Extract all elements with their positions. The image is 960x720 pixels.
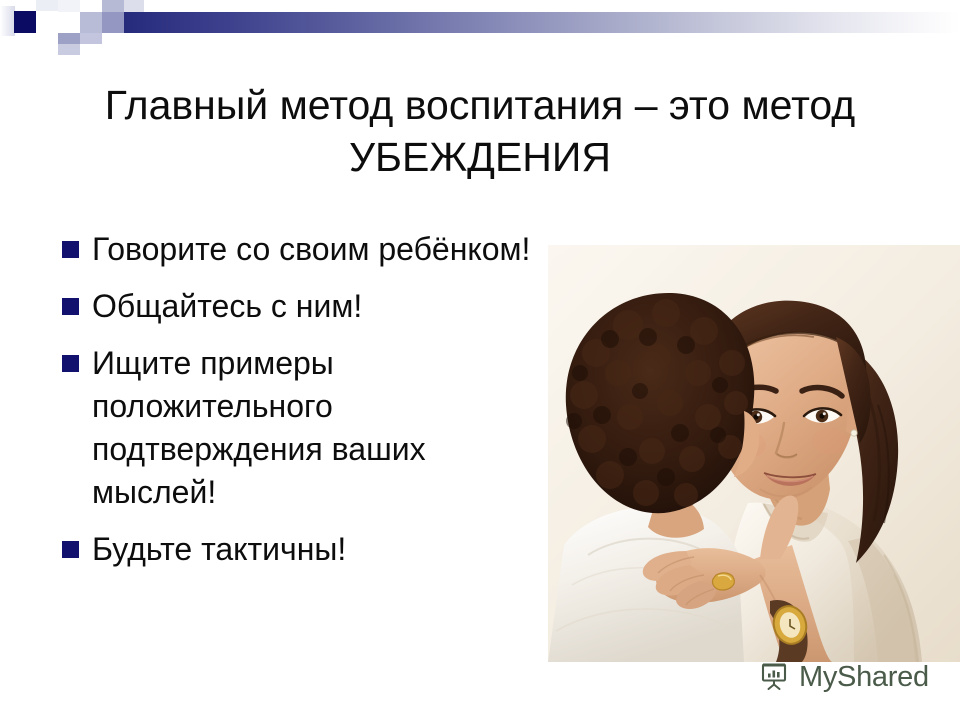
list-item: Будьте тактичны! (62, 528, 542, 571)
list-item-label: Говорите со своим ребёнком! (92, 228, 530, 271)
square-bullet-icon (62, 298, 79, 315)
page-title: Главный метод воспитания – это метод УБЕ… (40, 79, 920, 183)
header-decoration (0, 0, 960, 48)
list-item: Общайтесь с ним! (62, 285, 542, 328)
header-square-tile-6 (58, 12, 80, 33)
square-bullet-icon (62, 541, 79, 558)
header-square-tile-7 (80, 12, 102, 33)
header-square-tile-4 (102, 0, 124, 12)
header-square-tile-1 (36, 0, 58, 11)
header-square-tile-11 (80, 33, 102, 44)
list-item-label: Ищите примеры положительного подтвержден… (92, 342, 542, 514)
list-item-label: Будьте тактичны! (92, 528, 346, 571)
watermark-label: MyShared (799, 661, 929, 694)
blue-square-accent-icon (14, 11, 36, 33)
header-square-tile-12 (58, 44, 80, 55)
header-square-tile-9 (36, 33, 58, 44)
header-square-fade (0, 6, 15, 36)
square-bullet-icon (62, 355, 79, 372)
square-bullet-icon (62, 241, 79, 258)
header-square-tile-2 (58, 0, 80, 12)
watermark: MyShared (757, 657, 929, 697)
bullet-list: Говорите со своим ребёнком! Общайтесь с … (62, 228, 542, 585)
list-item: Ищите примеры положительного подтвержден… (62, 342, 542, 514)
header-square-tile-3 (80, 0, 102, 12)
header-square-tile-5 (124, 0, 144, 12)
list-item: Говорите со своим ребёнком! (62, 228, 542, 271)
header-square-tile-8 (102, 12, 124, 33)
header-square-tile-10 (58, 33, 80, 44)
list-item-label: Общайтесь с ним! (92, 285, 362, 328)
flipchart-icon (757, 658, 791, 697)
gradient-rule (58, 12, 960, 33)
photo-mother-and-child (548, 245, 960, 662)
